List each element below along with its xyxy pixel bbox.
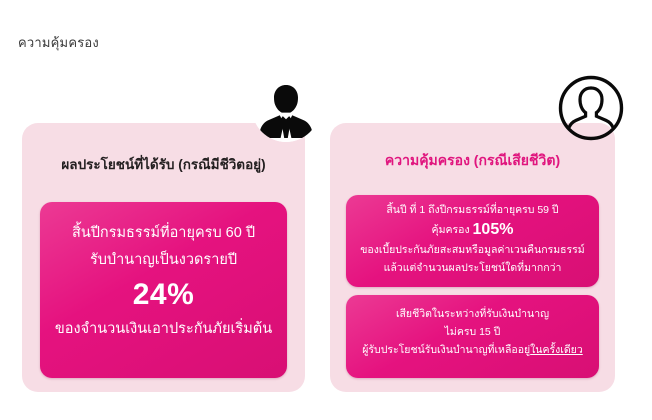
coverage-card1-line-2-prefix: คุ้มครอง: [432, 224, 473, 236]
businessman-filled-icon: [252, 74, 320, 142]
benefit-living-line-2: รับบำนาญเป็นงวดรายปี: [40, 247, 287, 274]
panel-heading-living: ผลประโยชน์ที่ได้รับ (กรณีมีชีวิตอยู่): [22, 153, 305, 175]
coverage-card-annuity-remainder: เสียชีวิตในระหว่างที่รับเงินบำนาญ ไม่ครบ…: [346, 295, 599, 378]
page-title: ความคุ้มครอง: [18, 32, 99, 53]
coverage-card1-line-3: ของเบี้ยประกันภัยสะสมหรือมูลค่าเวนคืนกรม…: [346, 241, 599, 259]
coverage-card2-line-3: ผู้รับประโยชน์รับเงินบำนาญที่เหลืออยู่ใน…: [346, 341, 599, 359]
benefit-living-line-3: ของจำนวนเงินเอาประกันภัยเริ่มต้น: [40, 316, 287, 343]
coverage-card2-line-3-underlined: ในครั้งเดียว: [530, 344, 583, 356]
panel-heading-death: ความคุ้มครอง (กรณีเสียชีวิต): [330, 150, 615, 172]
benefit-living-line-1: สิ้นปีกรมธรรม์ที่อายุครบ 60 ปี: [40, 220, 287, 247]
benefit-living-percent: 24%: [40, 274, 287, 316]
coverage-card2-line-2: ไม่ครบ 15 ปี: [346, 323, 599, 341]
coverage-card2-line-1: เสียชีวิตในระหว่างที่รับเงินบำนาญ: [346, 305, 599, 323]
benefit-panel-living: ผลประโยชน์ที่ได้รับ (กรณีมีชีวิตอยู่) สิ…: [22, 123, 305, 392]
coverage-card1-line-2: คุ้มครอง 105%: [346, 219, 599, 241]
coverage-card1-line-4: แล้วแต่จำนวนผลประโยชน์ใดที่มากกว่า: [346, 259, 599, 277]
coverage-card1-line-1: สิ้นปี ที่ 1 ถึงปีกรมธรรม์ที่อายุครบ 59 …: [346, 201, 599, 219]
person-outline-icon: [557, 74, 625, 142]
benefit-card-living: สิ้นปีกรมธรรม์ที่อายุครบ 60 ปี รับบำนาญเ…: [40, 202, 287, 378]
slide-canvas: ความคุ้มครอง ผลประโยชน์ที่ได้รับ (กรณีมี…: [0, 0, 652, 420]
coverage-card-premium-return: สิ้นปี ที่ 1 ถึงปีกรมธรรม์ที่อายุครบ 59 …: [346, 195, 599, 287]
coverage-panel-death: ความคุ้มครอง (กรณีเสียชีวิต) สิ้นปี ที่ …: [330, 123, 615, 392]
coverage-card1-percent: 105%: [473, 221, 514, 238]
coverage-card2-line-3-prefix: ผู้รับประโยชน์รับเงินบำนาญที่เหลืออยู่: [362, 344, 530, 356]
